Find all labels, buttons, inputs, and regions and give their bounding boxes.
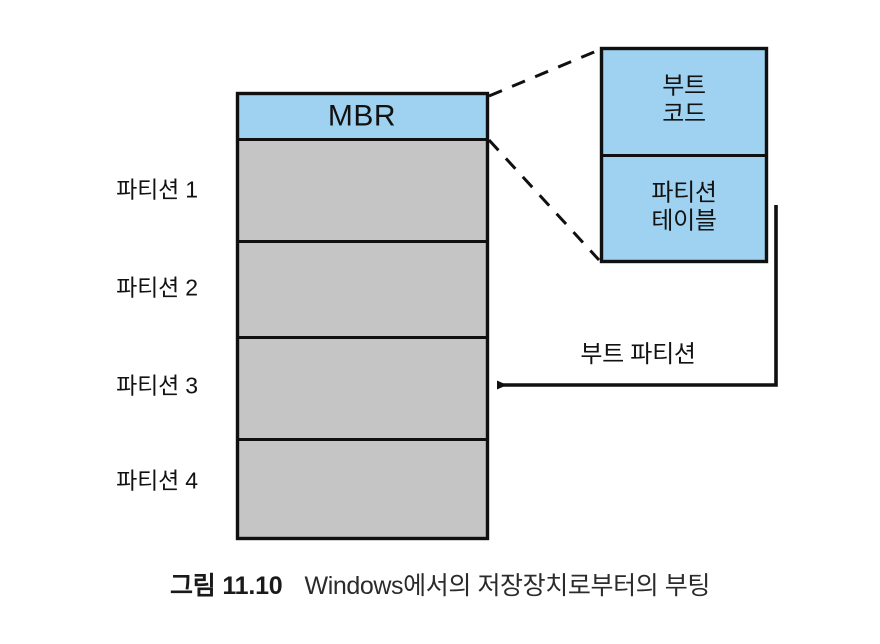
callout-partition-table-line2: 테이블: [651, 208, 716, 236]
figure-caption: 그림 11.10Windows에서의 저장장치로부터의 부팅: [0, 566, 880, 602]
caption-number: 그림 11.10: [170, 572, 283, 600]
partition-label-3: 파티션 3: [116, 372, 198, 399]
callout-partition-table-line1: 파티션: [651, 180, 716, 208]
boot-partition-label: 부트 파티션: [580, 341, 695, 369]
partition-label-1: 파티션 1: [116, 176, 198, 203]
diagram-canvas: [0, 0, 880, 644]
mbr-label: MBR: [328, 98, 396, 133]
partition-label-2: 파티션 2: [116, 274, 198, 301]
partition-label-4: 파티션 4: [116, 467, 198, 494]
callout-boot-code-line1: 부트: [662, 73, 706, 101]
caption-text: Windows에서의 저장장치로부터의 부팅: [305, 572, 711, 600]
callout-boot-code-label: 부트 코드: [662, 73, 706, 130]
leader-line-top: [489, 50, 599, 96]
partition-block-4: [238, 440, 488, 539]
leader-line-bottom: [489, 140, 599, 260]
callout-boot-code-line2: 코드: [662, 101, 706, 129]
partition-block-2: [238, 242, 488, 338]
callout-partition-table-label: 파티션 테이블: [651, 180, 716, 237]
partition-block-3: [238, 338, 488, 440]
partition-block-1: [238, 140, 488, 242]
figure-container: MBR 파티션 1 파티션 2 파티션 3 파티션 4 부트 코드 파티션 테이…: [0, 0, 880, 644]
